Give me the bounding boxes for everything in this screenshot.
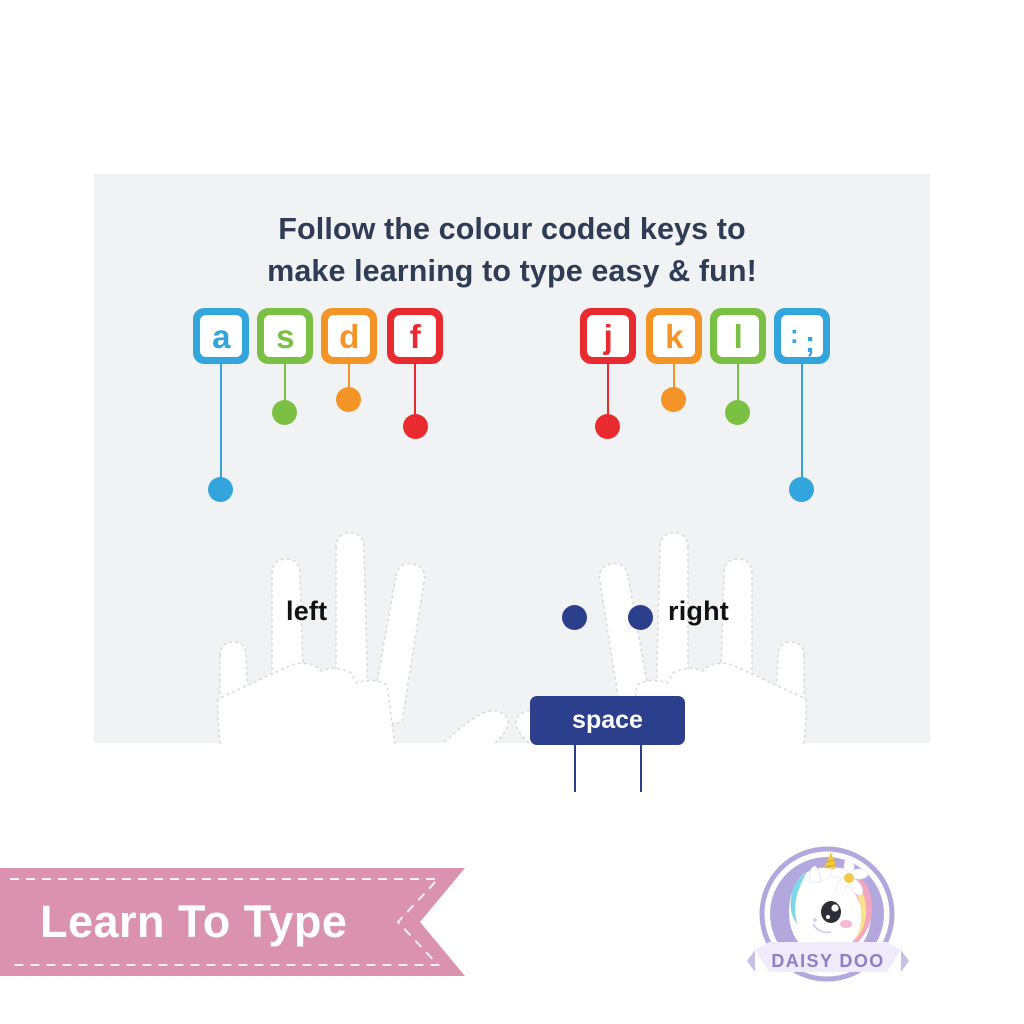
finger-dot-right-ring [725,400,750,425]
key-f[interactable]: f [387,308,443,364]
right-hand-label: right [668,596,729,627]
page-title: Follow the colour coded keys to make lea… [94,208,930,292]
key-semicolon-colon: : [790,321,798,347]
key-j[interactable]: j [580,308,636,364]
finger-dot-left-middle [336,387,361,412]
logo-brand-text: DAISY DOO [771,951,884,971]
finger-dot-right-pinky [789,477,814,502]
thumb-dot-right [628,605,653,630]
thumb-dot-left [562,605,587,630]
key-k-label: k [653,315,695,357]
connector-line-space-right [640,745,642,792]
logo-ribbon: DAISY DOO [747,942,909,972]
connector-line-f [414,364,416,414]
key-semicolon-glyph: : ; [781,315,823,357]
poster-panel: Follow the colour coded keys to make lea… [94,174,930,743]
unicorn-eye [821,901,841,923]
key-a-label: a [200,315,242,357]
heading-line-2: make learning to type easy & fun! [94,250,930,292]
finger-dot-left-pinky [208,477,233,502]
heading-line-1: Follow the colour coded keys to [94,208,930,250]
key-semicolon[interactable]: : ; [774,308,830,364]
space-key[interactable]: space [530,696,685,745]
daisy-doo-logo: DAISY DOO [745,838,910,1003]
learn-to-type-banner: Learn To Type [0,868,465,976]
finger-dot-left-ring [272,400,297,425]
key-k[interactable]: k [646,308,702,364]
finger-dot-right-index [595,414,620,439]
key-s-label: s [264,315,306,357]
key-semicolon-semi: ; [805,328,815,358]
key-s[interactable]: s [257,308,313,364]
key-d[interactable]: d [321,308,377,364]
key-j-label: j [587,315,629,357]
finger-dot-left-index [403,414,428,439]
connector-line-a [220,364,222,484]
key-d-label: d [328,315,370,357]
space-key-label: space [572,706,643,735]
connector-line-semicolon [801,364,803,484]
finger-dot-right-middle [661,387,686,412]
key-l[interactable]: l [710,308,766,364]
connector-line-space-left [574,745,576,792]
banner-title: Learn To Type [40,868,347,976]
connector-line-j [607,364,609,414]
unicorn-cheek [840,920,852,928]
left-hand-label: left [286,596,327,627]
key-a[interactable]: a [193,308,249,364]
key-f-label: f [394,315,436,357]
key-l-label: l [717,315,759,357]
